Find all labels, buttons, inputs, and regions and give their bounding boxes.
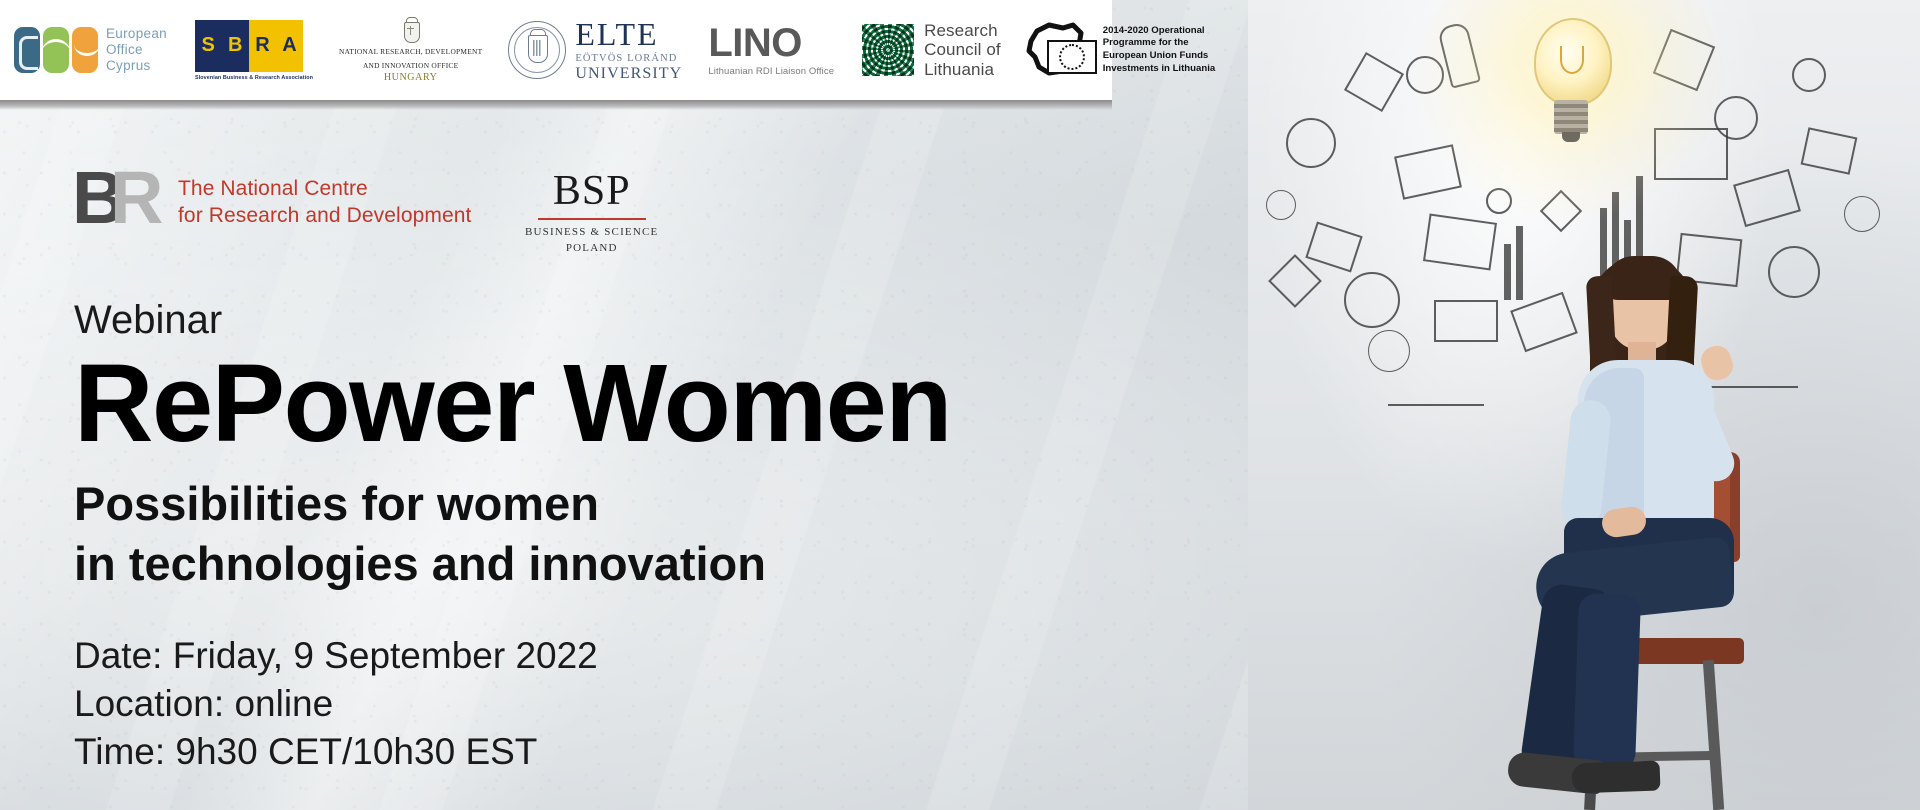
eu-stars-box: [1047, 40, 1097, 74]
light-bulb-icon: [1510, 8, 1630, 158]
eu-stars-icon: [1059, 44, 1085, 70]
event-time: Time: 9h30 CET/10h30 EST: [74, 728, 598, 776]
bulb-tip: [1562, 132, 1580, 142]
logo-sbra: S B R A Slovenian Business & Research As…: [195, 20, 313, 81]
sbra-letter-a: A: [282, 34, 296, 57]
eoc-line1: European: [106, 26, 167, 42]
nkfih-line1: NATIONAL RESEARCH, DEVELOPMENT: [339, 47, 482, 57]
bsp-name: BSP: [525, 170, 658, 212]
ncbr-line1: The National Centre: [178, 175, 471, 202]
hero-photo: [1248, 0, 1920, 810]
elte-sub1: EÖTVÖS LORÁND: [575, 53, 682, 64]
rcl-line3: Lithuania: [924, 60, 1001, 79]
ncbr-line2: for Research and Development: [178, 202, 471, 229]
nkfih-line2: AND INNOVATION OFFICE: [363, 61, 458, 71]
page-title: RePower Women: [74, 348, 951, 460]
eulit-line1: 2014-2020 Operational: [1103, 25, 1215, 38]
eoc-line2: Office: [106, 42, 167, 58]
eulit-line4: Investments in Lithuania: [1103, 63, 1215, 76]
logo-elte: ELTE EÖTVÖS LORÁND UNIVERSITY: [508, 18, 682, 83]
eulit-wordmark: 2014-2020 Operational Programme for the …: [1103, 25, 1215, 76]
ncbr-letter-r: R: [110, 171, 163, 224]
event-details: Date: Friday, 9 September 2022 Location:…: [74, 632, 598, 776]
sbra-left-half: S B: [195, 20, 249, 72]
elte-wordmark: ELTE EÖTVÖS LORÁND UNIVERSITY: [575, 18, 682, 83]
lithuania-map-icon: [1023, 19, 1095, 81]
nkfih-country: HUNGARY: [384, 72, 438, 83]
rcl-line1: Research: [924, 21, 1001, 40]
logo-european-office-cyprus: European Office Cyprus: [14, 26, 167, 74]
lino-tagline: Lithuanian RDI Liaison Office: [708, 66, 834, 77]
event-location: Location: online: [74, 680, 598, 728]
eulit-line2: Programme for the: [1103, 37, 1215, 50]
logo-bsp: BSP BUSINESS & SCIENCE POLAND: [525, 170, 658, 257]
rcl-line2: Council of: [924, 40, 1001, 59]
logo-research-council-lithuania: Research Council of Lithuania: [862, 21, 1001, 78]
eoc-block-green: [43, 27, 69, 73]
logo-lino: LINO Lithuanian RDI Liaison Office: [708, 24, 834, 77]
shoe-back: [1572, 760, 1661, 793]
sbra-letter-s: S: [202, 34, 215, 57]
event-date: Date: Friday, 9 September 2022: [74, 632, 598, 680]
subtitle-block: Possibilities for women in technologies …: [74, 474, 951, 594]
bsp-rule: [538, 218, 646, 220]
eoc-line3: Cyprus: [106, 58, 167, 74]
woman-figure: [1506, 250, 1806, 810]
crest-shield: [404, 22, 420, 43]
subtitle-line-2: in technologies and innovation: [74, 534, 951, 594]
hungary-coat-of-arms-icon: [402, 17, 420, 43]
bsp-sub2: POLAND: [525, 241, 658, 257]
rcl-wordmark: Research Council of Lithuania: [924, 21, 1001, 78]
partner-logo-strip: European Office Cyprus S B R A Slovenian…: [0, 0, 1112, 100]
eoc-block-blue: [14, 27, 40, 73]
bulb-base: [1554, 100, 1588, 134]
logo-ncbr: B R The National Centre for Research and…: [72, 165, 471, 239]
bulb-filament: [1560, 46, 1584, 74]
logo-nkfih-hungary: NATIONAL RESEARCH, DEVELOPMENT AND INNOV…: [339, 17, 482, 84]
logo-strip-shadow: [0, 100, 1112, 110]
elte-seal-shield: [528, 35, 548, 63]
eoc-wordmark: European Office Cyprus: [106, 26, 167, 74]
logo-eu-funds-lithuania: 2014-2020 Operational Programme for the …: [1023, 19, 1215, 81]
sbra-letter-r: R: [255, 34, 269, 57]
event-type-label: Webinar: [74, 300, 951, 340]
bsp-sub1: BUSINESS & SCIENCE: [525, 225, 658, 241]
headline-block: Webinar RePower Women Possibilities for …: [74, 300, 951, 595]
crest-cross: [410, 26, 411, 35]
eoc-block-orange: [72, 27, 98, 73]
webinar-banner: European Office Cyprus S B R A Slovenian…: [0, 0, 1920, 810]
sbra-mark: S B R A: [195, 20, 303, 72]
sbra-tagline: Slovenian Business & Research Associatio…: [195, 75, 313, 81]
elte-sub2: UNIVERSITY: [575, 65, 682, 83]
eulit-line3: European Union Funds: [1103, 50, 1215, 63]
shin-back: [1573, 593, 1641, 771]
sbra-right-half: R A: [249, 20, 303, 72]
ncbr-letter-b: B: [72, 171, 115, 224]
sbra-letter-b: B: [228, 34, 242, 57]
eoc-mark: [14, 27, 98, 73]
elte-name: ELTE: [575, 18, 682, 50]
lino-name: LINO: [708, 24, 802, 62]
ncbr-mark-icon: B R: [72, 165, 160, 239]
elte-seal-icon: [508, 21, 566, 79]
rcl-starburst-icon: [862, 24, 914, 76]
subtitle-line-1: Possibilities for women: [74, 474, 951, 534]
ncbr-wordmark: The National Centre for Research and Dev…: [178, 175, 471, 230]
